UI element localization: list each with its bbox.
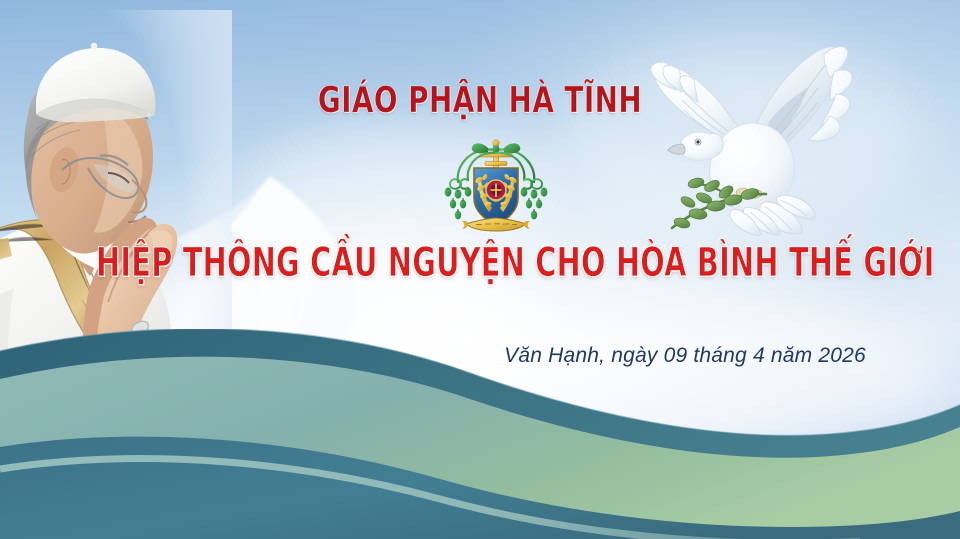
coat-of-arms-emblem bbox=[432, 128, 560, 240]
wave-footer bbox=[0, 329, 960, 539]
peace-dove bbox=[638, 36, 858, 236]
prayer-banner: GIÁO PHẬN HÀ TĨNH HIỆP THÔNG CẦU NGUYỆN … bbox=[0, 0, 960, 539]
